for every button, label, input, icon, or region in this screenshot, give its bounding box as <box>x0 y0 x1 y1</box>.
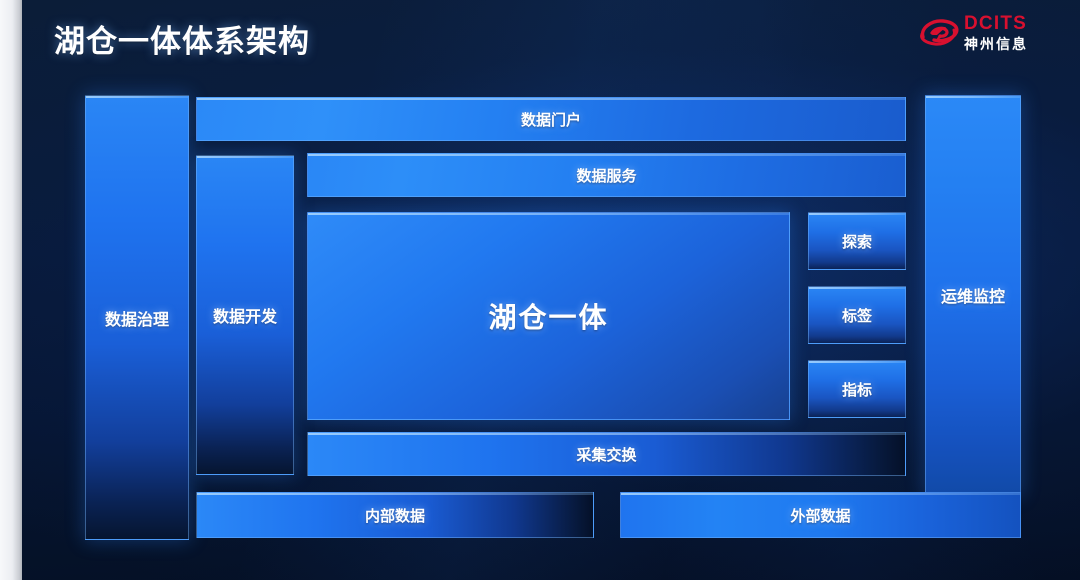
bar-data-portal[interactable]: 数据门户 <box>196 97 906 141</box>
slide-canvas: 湖仓一体体系架构 DCITS 神州信息 数据治理 数据开发 <box>0 0 1080 580</box>
pillar-data-governance[interactable]: 数据治理 <box>85 95 189 540</box>
core-lakehouse[interactable]: 湖仓一体 <box>307 212 790 420</box>
bar-internal-data-label: 内部数据 <box>197 505 593 526</box>
bar-external-data[interactable]: 外部数据 <box>620 492 1021 538</box>
chip-metric-label: 指标 <box>809 379 905 400</box>
pillar-data-development-label: 数据开发 <box>197 303 293 327</box>
bar-data-service-label: 数据服务 <box>308 165 905 186</box>
brand-logo: DCITS 神州信息 <box>916 10 1056 62</box>
logo-chinese-text: 神州信息 <box>964 35 1056 53</box>
pillar-data-development[interactable]: 数据开发 <box>196 155 294 475</box>
logo-wordmark: DCITS 神州信息 <box>964 14 1056 53</box>
bar-data-service[interactable]: 数据服务 <box>307 153 906 197</box>
bar-collection-exchange[interactable]: 采集交换 <box>307 432 906 476</box>
page-title: 湖仓一体体系架构 <box>54 16 310 61</box>
page-left-edge <box>0 0 22 580</box>
bar-internal-data[interactable]: 内部数据 <box>196 492 594 538</box>
dcits-swirl-icon <box>918 16 960 50</box>
bar-collection-exchange-label: 采集交换 <box>308 444 905 465</box>
chip-tag-label: 标签 <box>809 305 905 326</box>
pillar-ops-monitoring-label: 运维监控 <box>926 283 1020 307</box>
chip-explore-label: 探索 <box>809 231 905 252</box>
pillar-ops-monitoring[interactable]: 运维监控 <box>925 95 1021 495</box>
chip-metric[interactable]: 指标 <box>808 360 906 418</box>
bar-external-data-label: 外部数据 <box>621 505 1020 526</box>
core-lakehouse-label: 湖仓一体 <box>308 296 789 336</box>
chip-explore[interactable]: 探索 <box>808 212 906 270</box>
pillar-data-governance-label: 数据治理 <box>86 306 188 330</box>
bar-data-portal-label: 数据门户 <box>197 109 905 130</box>
chip-tag[interactable]: 标签 <box>808 286 906 344</box>
logo-english-text: DCITS <box>964 14 1056 34</box>
